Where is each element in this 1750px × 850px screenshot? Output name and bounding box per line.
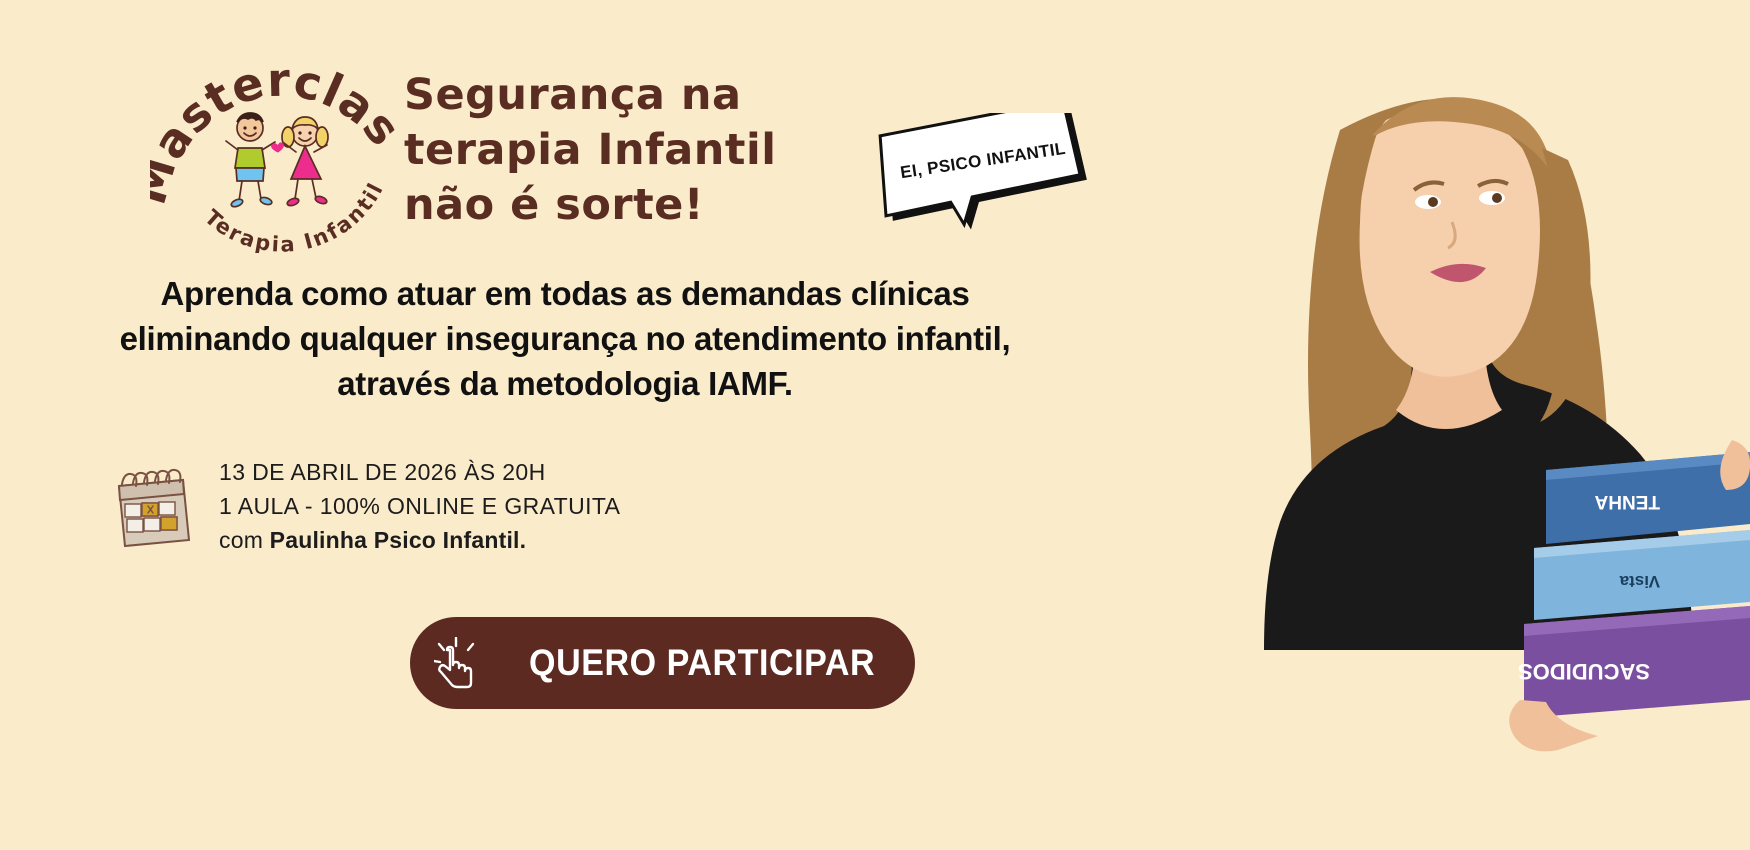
headline-line-2: terapia Infantil [404,123,874,178]
event-info: 13 DE ABRIL DE 2026 ÀS 20H 1 AULA - 100%… [105,455,620,557]
logo: Masterclass Terapia Infantil [150,38,400,253]
cta-label: QUERO PARTICIPAR [529,642,875,684]
quero-participar-button[interactable]: QUERO PARTICIPAR [410,617,915,709]
subheadline-line-2: eliminando qualquer insegurança no atend… [60,317,1070,362]
subheadline: Aprenda como atuar em todas as demandas … [60,272,1070,407]
logo-kids-illustration [212,106,342,216]
presenter-photo-illustration: TENHA Vista SACUDIDOS [1190,0,1750,850]
subheadline-line-1: Aprenda como atuar em todas as demandas … [60,272,1070,317]
event-host-name: Paulinha Psico Infantil. [270,527,527,553]
speech-bubble [878,113,1088,233]
subheadline-line-3: através da metodologia IAMF. [60,362,1070,407]
event-info-lines: 13 DE ABRIL DE 2026 ÀS 20H 1 AULA - 100%… [219,455,620,557]
headline-line-1: Segurança na [404,68,874,123]
event-date: 13 DE ABRIL DE 2026 ÀS 20H [219,455,620,489]
click-cursor-icon [434,637,480,689]
calendar-icon [105,458,201,554]
headline-line-3: não é sorte! [404,178,874,233]
svg-text:SACUDIDOS: SACUDIDOS [1518,659,1650,684]
event-host: com Paulinha Psico Infantil. [219,523,620,557]
event-host-prefix: com [219,527,270,553]
promo-banner: Masterclass Terapia Infantil [0,0,1750,850]
headline: Segurança na terapia Infantil não é sort… [404,68,874,233]
svg-text:Vista: Vista [1619,572,1660,591]
svg-text:TENHA: TENHA [1594,491,1660,512]
presenter-photo: TENHA Vista SACUDIDOS [1190,0,1750,850]
event-format: 1 AULA - 100% ONLINE E GRATUITA [219,489,620,523]
